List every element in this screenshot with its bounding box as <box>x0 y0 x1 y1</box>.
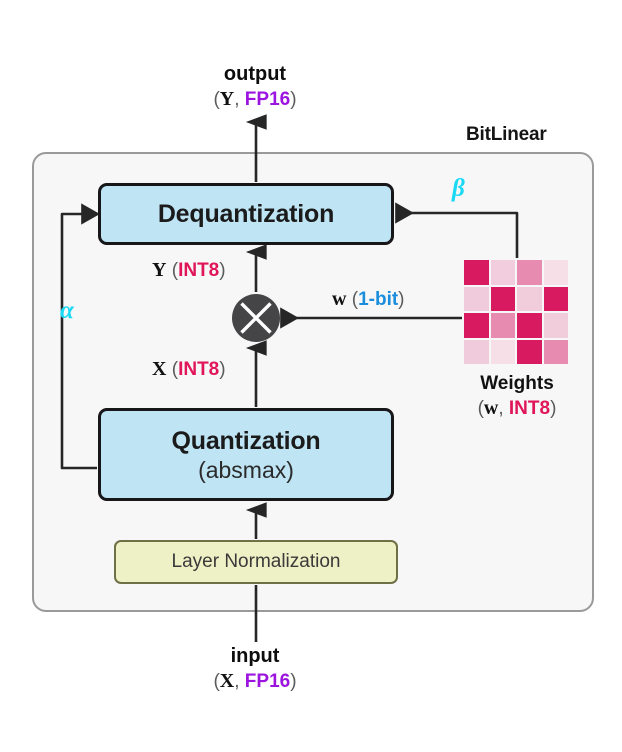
weight-cell-0-0 <box>464 260 489 285</box>
paren-close: ) <box>290 89 296 110</box>
weights-dtype-tag: INT8 <box>509 398 550 419</box>
edge-label-x-int8: X (INT8) <box>152 358 226 381</box>
input-label: input (X, FP16) <box>145 644 365 696</box>
weight-cell-2-2 <box>517 313 542 338</box>
weight-cell-3-2 <box>517 340 542 365</box>
output-signature: (Y, FP16) <box>145 86 365 114</box>
output-title: output <box>145 62 365 86</box>
paren-close: ) <box>219 359 225 380</box>
quantization-block[interactable]: Quantization (absmax) <box>98 408 394 501</box>
weight-cell-3-1 <box>491 340 516 365</box>
multiply-node[interactable] <box>232 294 280 342</box>
output-dtype-tag: FP16 <box>245 89 290 110</box>
weight-cell-2-3 <box>544 313 569 338</box>
layer-normalization-label: Layer Normalization <box>172 551 341 573</box>
quantization-sublabel: (absmax) <box>198 456 294 484</box>
comma: , <box>498 398 509 419</box>
dequantization-block[interactable]: Dequantization <box>98 183 394 245</box>
paren-close: ) <box>550 398 556 419</box>
edge-var-w: w <box>332 288 346 310</box>
diagram-canvas: BitLinear Dequan <box>0 0 622 752</box>
edge-dtype-int8: INT8 <box>178 359 219 380</box>
weight-cell-1-2 <box>517 287 542 312</box>
beta-scale-label: β <box>452 175 465 203</box>
input-dtype-tag: FP16 <box>245 671 290 692</box>
weight-cell-3-3 <box>544 340 569 365</box>
comma: , <box>234 671 245 692</box>
bitlinear-title: BitLinear <box>466 124 547 146</box>
dequantization-label: Dequantization <box>158 200 334 229</box>
output-label: output (Y, FP16) <box>145 62 365 114</box>
paren-close: ) <box>219 260 225 281</box>
weight-cell-0-1 <box>491 260 516 285</box>
comma: , <box>234 89 245 110</box>
edge-var-y: Y <box>152 259 166 281</box>
paren-open: ( <box>346 289 358 310</box>
weight-cell-1-0 <box>464 287 489 312</box>
weights-matrix <box>464 260 568 364</box>
edge-label-w-1bit: w (1-bit) <box>332 288 405 311</box>
input-var: X <box>220 670 234 692</box>
edge-label-y-int8: Y (INT8) <box>152 259 226 282</box>
weight-cell-0-3 <box>544 260 569 285</box>
output-var: Y <box>220 88 234 110</box>
alpha-scale-label: α <box>60 297 74 325</box>
input-title: input <box>145 644 365 668</box>
weight-cell-2-1 <box>491 313 516 338</box>
weights-caption-sub: (w, INT8) <box>438 395 596 422</box>
paren-open: ( <box>166 260 178 281</box>
edge-dtype-1bit: 1-bit <box>358 289 398 310</box>
weight-cell-1-1 <box>491 287 516 312</box>
weight-cell-1-3 <box>544 287 569 312</box>
weights-var: w <box>484 397 498 419</box>
paren-close: ) <box>290 671 296 692</box>
layer-normalization-block[interactable]: Layer Normalization <box>114 540 398 584</box>
weights-caption: Weights (w, INT8) <box>438 372 596 422</box>
quantization-label: Quantization <box>172 426 321 456</box>
paren-open: ( <box>166 359 178 380</box>
weight-cell-3-0 <box>464 340 489 365</box>
edge-dtype-int8: INT8 <box>178 260 219 281</box>
paren-close: ) <box>398 289 404 310</box>
weight-cell-2-0 <box>464 313 489 338</box>
input-signature: (X, FP16) <box>145 668 365 696</box>
edge-var-x: X <box>152 358 166 380</box>
weight-cell-0-2 <box>517 260 542 285</box>
weights-caption-title: Weights <box>438 372 596 395</box>
multiply-icon <box>232 294 280 342</box>
